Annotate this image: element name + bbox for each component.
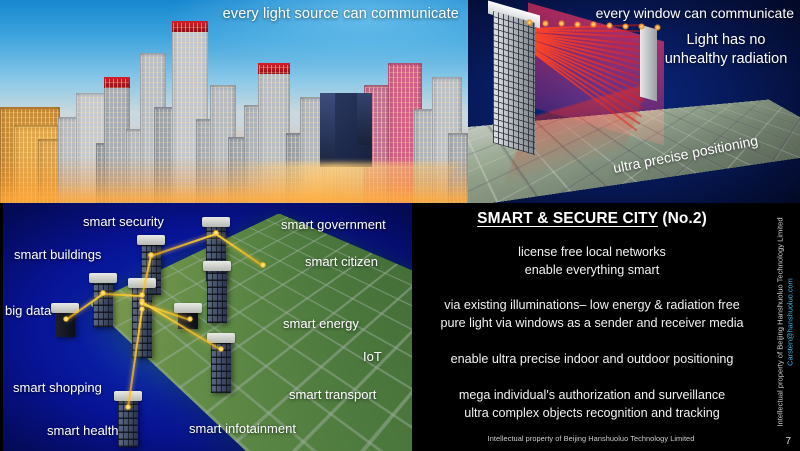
receiver-tower <box>640 25 657 102</box>
window-caption-radiation: Light has no unhealthy radiation <box>662 31 790 70</box>
text-block-1: license free local networksenable everyt… <box>412 243 778 280</box>
window-light-source <box>526 19 533 26</box>
body-line: mega individual's authorization and surv… <box>412 386 778 404</box>
smart-city-label: smart security <box>83 214 164 229</box>
body-line: via existing illuminations– low energy &… <box>412 296 778 314</box>
window-light-source <box>622 23 629 30</box>
text-block-3: enable ultra precise indoor and outdoor … <box>412 350 778 368</box>
smart-city-label: smart energy <box>283 316 359 331</box>
smart-city-label: smart government <box>281 217 386 232</box>
sidebar-email-link[interactable]: Carsten@hanshuoluo.com <box>786 278 795 366</box>
body-line: enable everything smart <box>412 261 778 279</box>
window-communication-render: every window can communicate Light has n… <box>468 0 800 203</box>
smart-city-label: big data <box>5 303 51 318</box>
city-skyline-photo: every light source can communicate <box>0 0 468 203</box>
sidebar-company-text: Intellectual property of Beijing Hanshuo… <box>776 217 785 426</box>
window-light-source <box>574 21 581 28</box>
body-line: license free local networks <box>412 243 778 261</box>
smart-city-label: smart health <box>47 423 119 438</box>
window-caption-top: every window can communicate <box>596 5 794 21</box>
body-line: pure light via windows as a sender and r… <box>412 314 778 332</box>
page-number: 7 <box>785 436 791 447</box>
smart-city-label: IoT <box>363 349 382 364</box>
window-light-source <box>654 24 661 31</box>
smart-city-label: smart infotainment <box>189 421 296 436</box>
smart-city-label: smart transport <box>289 387 376 402</box>
footer-credit: Intellectual property of Beijing Hanshuo… <box>412 434 770 443</box>
smart-secure-city-text: SMART & SECURE CITY (No.2) license free … <box>412 203 800 451</box>
body-line: ultra complex objects recognition and tr… <box>412 404 778 422</box>
window-light-source <box>606 22 613 29</box>
page-title-main: SMART & SECURE CITY <box>477 210 658 227</box>
smart-city-labels: smart securitysmart governmentsmart buil… <box>0 203 412 451</box>
skyline-caption: every light source can communicate <box>223 6 459 22</box>
vertical-sidebar: Intellectual property of Beijing Hanshuo… <box>772 203 798 441</box>
smart-city-label: smart buildings <box>14 247 101 262</box>
window-light-source <box>542 20 549 27</box>
cctv-tower-building <box>320 93 372 167</box>
page-title: SMART & SECURE CITY (No.2) <box>412 210 772 228</box>
body-line: enable ultra precise indoor and outdoor … <box>412 350 778 368</box>
text-block-2: via existing illuminations– low energy &… <box>412 296 778 333</box>
sender-tower <box>493 11 535 155</box>
smart-city-label: smart shopping <box>13 380 102 395</box>
page-title-suffix: (No.2) <box>658 210 707 227</box>
window-light-source <box>590 21 597 28</box>
text-block-4: mega individual's authorization and surv… <box>412 386 778 423</box>
smart-city-label: smart citizen <box>305 254 378 269</box>
window-light-source <box>558 20 565 27</box>
panel-seam <box>0 203 3 451</box>
presentation-slide: every light source can communicate every… <box>0 0 800 451</box>
street-glow <box>0 157 468 203</box>
smart-city-diagram: smart securitysmart governmentsmart buil… <box>0 203 412 451</box>
